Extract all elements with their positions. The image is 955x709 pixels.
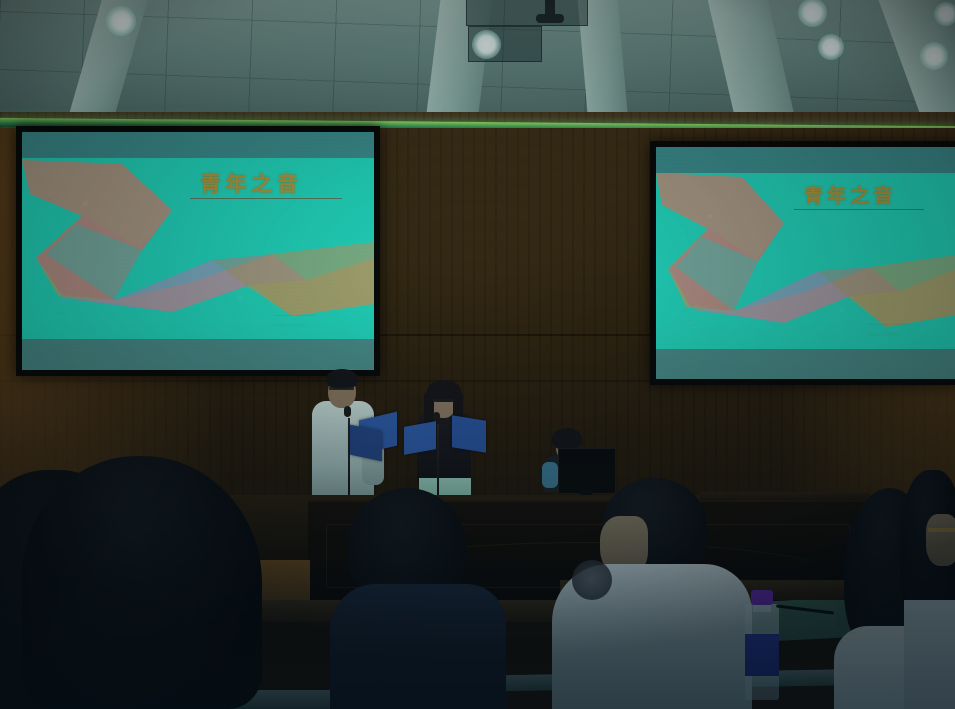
downlight-icon bbox=[920, 42, 948, 70]
screen-left[interactable]: 青年之音 ·········· ·········· ········ ····… bbox=[16, 126, 380, 376]
auditorium-photo: 青年之音 ·········· ·········· ········ ····… bbox=[0, 0, 955, 709]
ceiling bbox=[0, 0, 955, 128]
downlight-icon bbox=[934, 2, 955, 26]
audience-6 bbox=[900, 470, 955, 709]
projection-texture bbox=[656, 147, 955, 379]
water-bottle[interactable] bbox=[745, 590, 779, 700]
wall-emblem bbox=[572, 560, 612, 600]
audience-3 bbox=[330, 488, 520, 709]
host-female-folder bbox=[404, 421, 436, 455]
screen-right[interactable]: 青年之音 ·········· ········· ······· ······… bbox=[650, 141, 955, 385]
downlight-icon bbox=[472, 30, 501, 59]
audience-2 bbox=[22, 456, 262, 709]
downlight-icon bbox=[106, 6, 136, 36]
projector-mount-icon bbox=[536, 14, 564, 23]
glasses-icon bbox=[433, 399, 454, 402]
microphone-icon bbox=[344, 406, 351, 417]
ceiling-vent bbox=[466, 0, 588, 26]
screen-right-surface: 青年之音 ·········· ········· ······· ······… bbox=[656, 147, 955, 379]
glasses-icon bbox=[329, 387, 354, 390]
projection-texture bbox=[22, 132, 374, 370]
audience-6-shirt bbox=[904, 600, 955, 709]
host-female-folder bbox=[452, 415, 486, 452]
host-male-hair bbox=[326, 369, 358, 389]
bottle-cap bbox=[751, 590, 773, 605]
audience-6-face bbox=[926, 514, 955, 566]
glasses-icon bbox=[928, 528, 955, 532]
audience-3-shirt bbox=[330, 584, 506, 709]
slide-left: 青年之音 ·········· ·········· ········ ····… bbox=[22, 132, 374, 370]
screen-left-surface: 青年之音 ·········· ·········· ········ ····… bbox=[22, 132, 374, 370]
slide-right: 青年之音 ·········· ········· ······· ······… bbox=[656, 147, 955, 379]
operator-hair bbox=[552, 428, 582, 450]
bottle-label bbox=[745, 634, 779, 676]
downlight-icon bbox=[818, 34, 844, 60]
audience-hair bbox=[22, 456, 262, 709]
